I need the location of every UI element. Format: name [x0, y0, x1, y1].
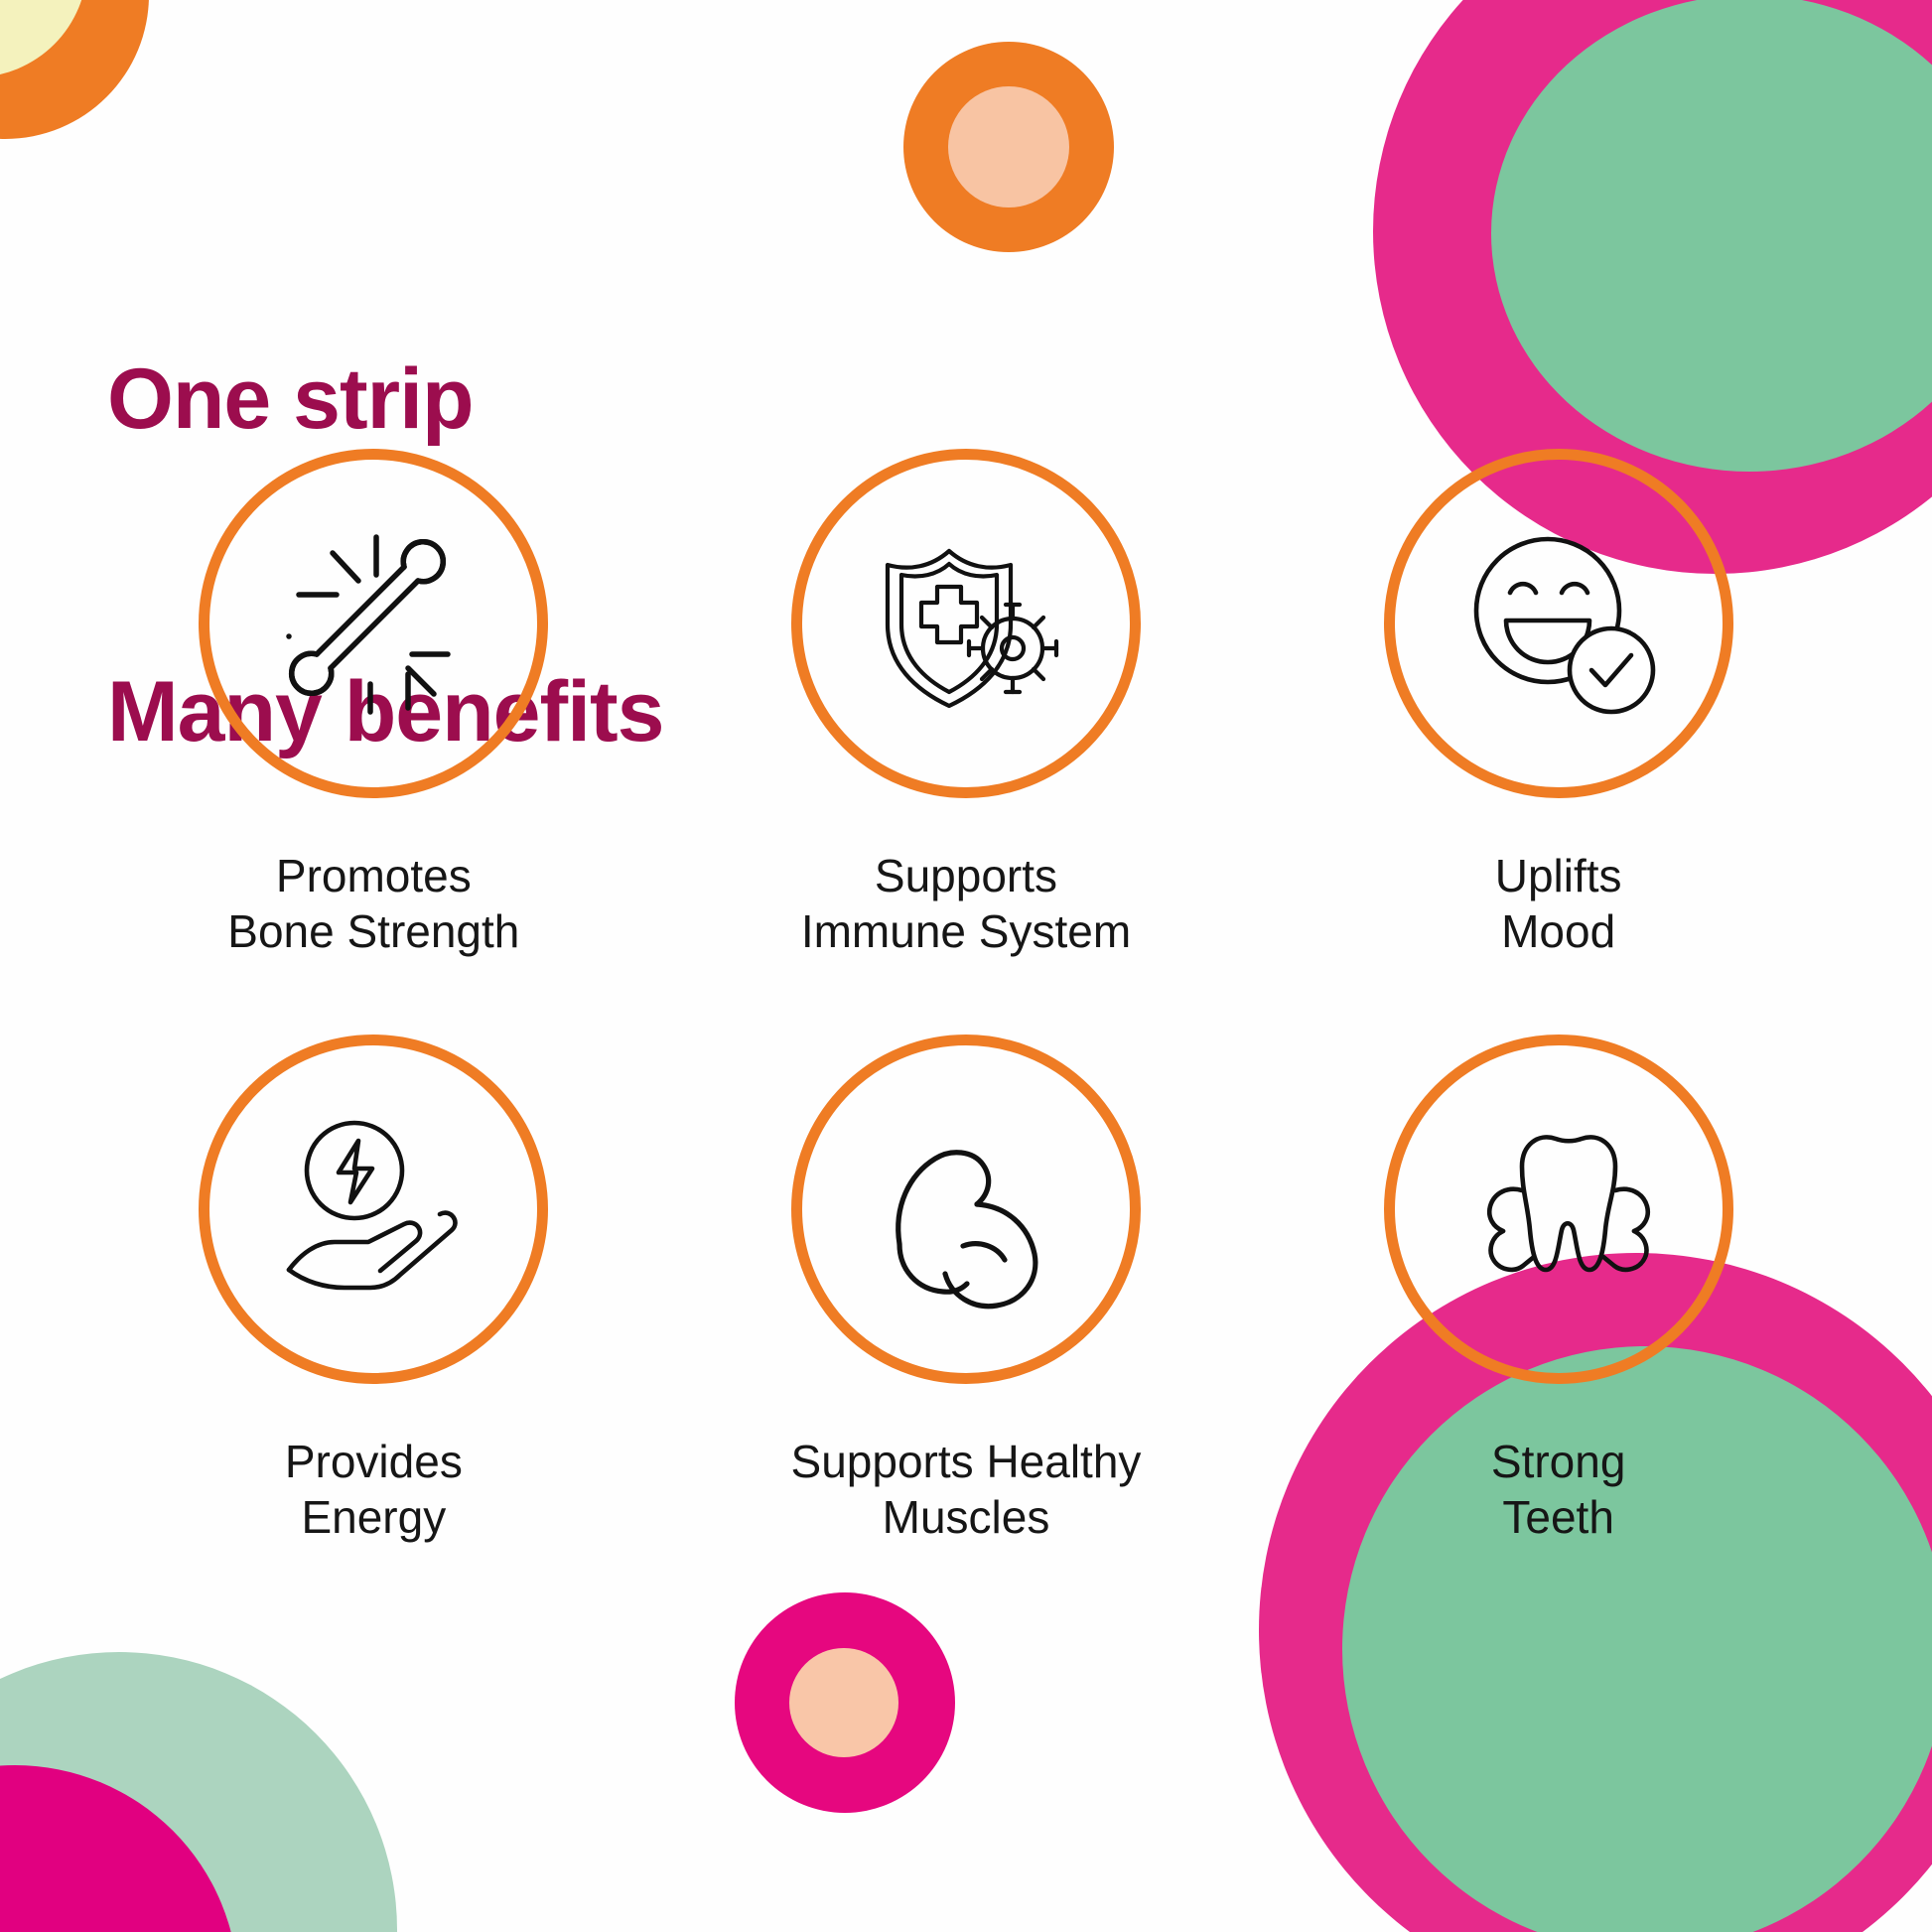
top-middle-dot-inner-circle	[948, 86, 1069, 207]
benefit-item-healthy-muscles: Supports Healthy Muscles	[670, 1035, 1263, 1620]
top-left-ring-outer-circle	[0, 0, 149, 139]
bottom-middle-dot-inner-circle	[789, 1648, 898, 1757]
benefit-icon-ring	[199, 1035, 548, 1384]
benefits-infographic: One strip Many benefits	[0, 0, 1932, 1932]
benefits-grid: Promotes Bone Strength	[77, 449, 1855, 1620]
benefit-label: Uplifts Mood	[1495, 848, 1622, 959]
strong-tooth-icon	[1445, 1095, 1673, 1323]
top-left-ring-inner-circle	[0, 0, 87, 77]
flexed-bicep-icon	[852, 1095, 1080, 1323]
top-right-ring-inner-circle	[1491, 0, 1932, 472]
benefit-icon-ring	[199, 449, 548, 798]
benefit-label: Supports Immune System	[801, 848, 1131, 959]
benefit-label: Provides Energy	[285, 1434, 463, 1545]
smiley-check-icon	[1445, 509, 1673, 738]
benefit-icon-ring	[791, 1035, 1141, 1384]
energy-hand-icon	[259, 1095, 487, 1323]
benefit-item-strong-teeth: Strong Teeth	[1262, 1035, 1855, 1620]
page-title-line-1: One strip	[107, 347, 663, 452]
benefit-icon-ring	[791, 449, 1141, 798]
bone-icon	[259, 509, 487, 738]
bottom-left-ring-outer-circle	[0, 1652, 397, 1932]
benefit-item-immune-system: Supports Immune System	[670, 449, 1263, 1035]
benefit-item-bone-strength: Promotes Bone Strength	[77, 449, 670, 1035]
benefit-label: Promotes Bone Strength	[227, 848, 519, 959]
benefit-label: Supports Healthy Muscles	[791, 1434, 1142, 1545]
bottom-left-ring-inner-circle	[0, 1765, 238, 1932]
top-middle-dot-outer-circle	[903, 42, 1114, 252]
bottom-middle-dot-outer-circle	[735, 1592, 955, 1813]
benefit-item-uplifts-mood: Uplifts Mood	[1262, 449, 1855, 1035]
shield-virus-icon	[852, 509, 1080, 738]
benefit-icon-ring	[1384, 449, 1733, 798]
benefit-item-provides-energy: Provides Energy	[77, 1035, 670, 1620]
benefit-label: Strong Teeth	[1491, 1434, 1626, 1545]
benefit-icon-ring	[1384, 1035, 1733, 1384]
